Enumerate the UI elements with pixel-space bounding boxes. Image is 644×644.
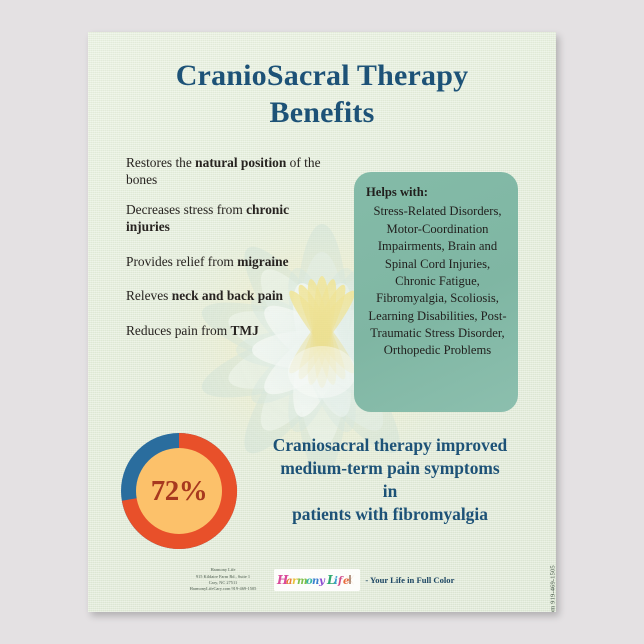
benefit-item: Decreases stress from chronic injuries (126, 201, 331, 236)
benefit-strong: natural position (195, 155, 286, 170)
helps-with-heading: Helps with: (366, 184, 509, 201)
donut-chart-svg (118, 430, 240, 552)
footer: Harmony Life 915 Kildaire Farm Rd., Suit… (88, 560, 556, 600)
brand-slogan: - Your Life in Full Color (365, 575, 454, 585)
benefit-strong: neck and back pain (172, 288, 283, 303)
title-line-1: CranioSacral Therapy (176, 59, 469, 92)
tagline-line-4: patients with fibromyalgia (236, 503, 544, 526)
svg-text:e: e (343, 576, 349, 587)
benefit-prefix: Restores the (126, 155, 195, 170)
tagline-line-2: medium-term pain symptoms (236, 457, 544, 480)
title-line-2: Benefits (88, 95, 556, 132)
benefit-item: Provides relief from migraine (126, 253, 331, 270)
brand-lockup: H a r m o n y L i f e - Your Life (274, 569, 454, 591)
benefit-prefix: Reduces pain from (126, 323, 231, 338)
footer-address: Harmony Life 915 Kildaire Farm Rd., Suit… (190, 567, 257, 593)
donut-chart: 72% (118, 430, 240, 552)
benefit-item: Reduces pain from TMJ (126, 322, 331, 339)
tagline-line-1: Craniosacral therapy improved (236, 434, 544, 457)
benefit-strong: TMJ (231, 323, 259, 338)
tagline: Craniosacral therapy improved medium-ter… (236, 434, 544, 527)
benefit-prefix: Provides relief from (126, 254, 237, 269)
helps-with-panel: Helps with: Stress-Related Disorders, Mo… (354, 172, 518, 412)
benefit-item: Restores the natural position of the bon… (126, 154, 331, 189)
donut-center (136, 448, 222, 534)
tagline-line-3: in (236, 480, 544, 503)
harmony-life-logo: H a r m o n y L i f e (274, 569, 360, 591)
copyright-notice: Copyright 2013 by Harmony Life HarmonyLi… (549, 565, 556, 612)
page-title: CranioSacral Therapy Benefits (88, 58, 556, 131)
benefit-prefix: Releves (126, 288, 172, 303)
benefit-prefix: Decreases stress from (126, 202, 246, 217)
svg-text:y: y (318, 576, 326, 587)
benefit-strong: migraine (237, 254, 288, 269)
benefits-list: Restores the natural position of the bon… (126, 154, 331, 351)
helps-with-body: Stress-Related Disorders, Motor-Coordina… (366, 203, 509, 359)
poster-sheet: CranioSacral Therapy Benefits Restores t… (88, 32, 556, 612)
benefit-item: Releves neck and back pain (126, 287, 331, 304)
address-line: HarmonyLifeCary.com 919-469-1505 (190, 586, 257, 592)
